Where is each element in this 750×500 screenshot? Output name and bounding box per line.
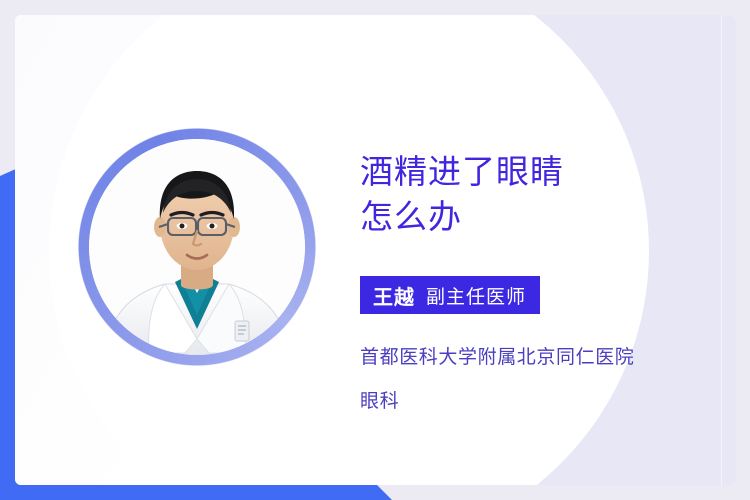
doctor-title: 副主任医师 bbox=[426, 282, 526, 309]
doctor-hospital: 首都医科大学附属北京同仁医院 bbox=[360, 342, 720, 369]
doctor-name: 王越 bbox=[373, 281, 415, 310]
poster-card: 酒精进了眼睛 怎么办 王越 副主任医师 首都医科大学附属北京同仁医院 眼科 bbox=[15, 15, 736, 485]
avatar bbox=[73, 123, 321, 371]
doctor-department: 眼科 bbox=[360, 386, 720, 413]
poster-canvas: 酒精进了眼睛 怎么办 王越 副主任医师 首都医科大学附属北京同仁医院 眼科 bbox=[0, 0, 750, 500]
poster-content: 酒精进了眼睛 怎么办 王越 副主任医师 首都医科大学附属北京同仁医院 眼科 bbox=[15, 15, 736, 485]
page-title: 酒精进了眼睛 怎么办 bbox=[360, 149, 690, 239]
doctor-name-badge: 王越 副主任医师 bbox=[360, 276, 540, 314]
doctor-avatar-icon bbox=[89, 139, 305, 355]
